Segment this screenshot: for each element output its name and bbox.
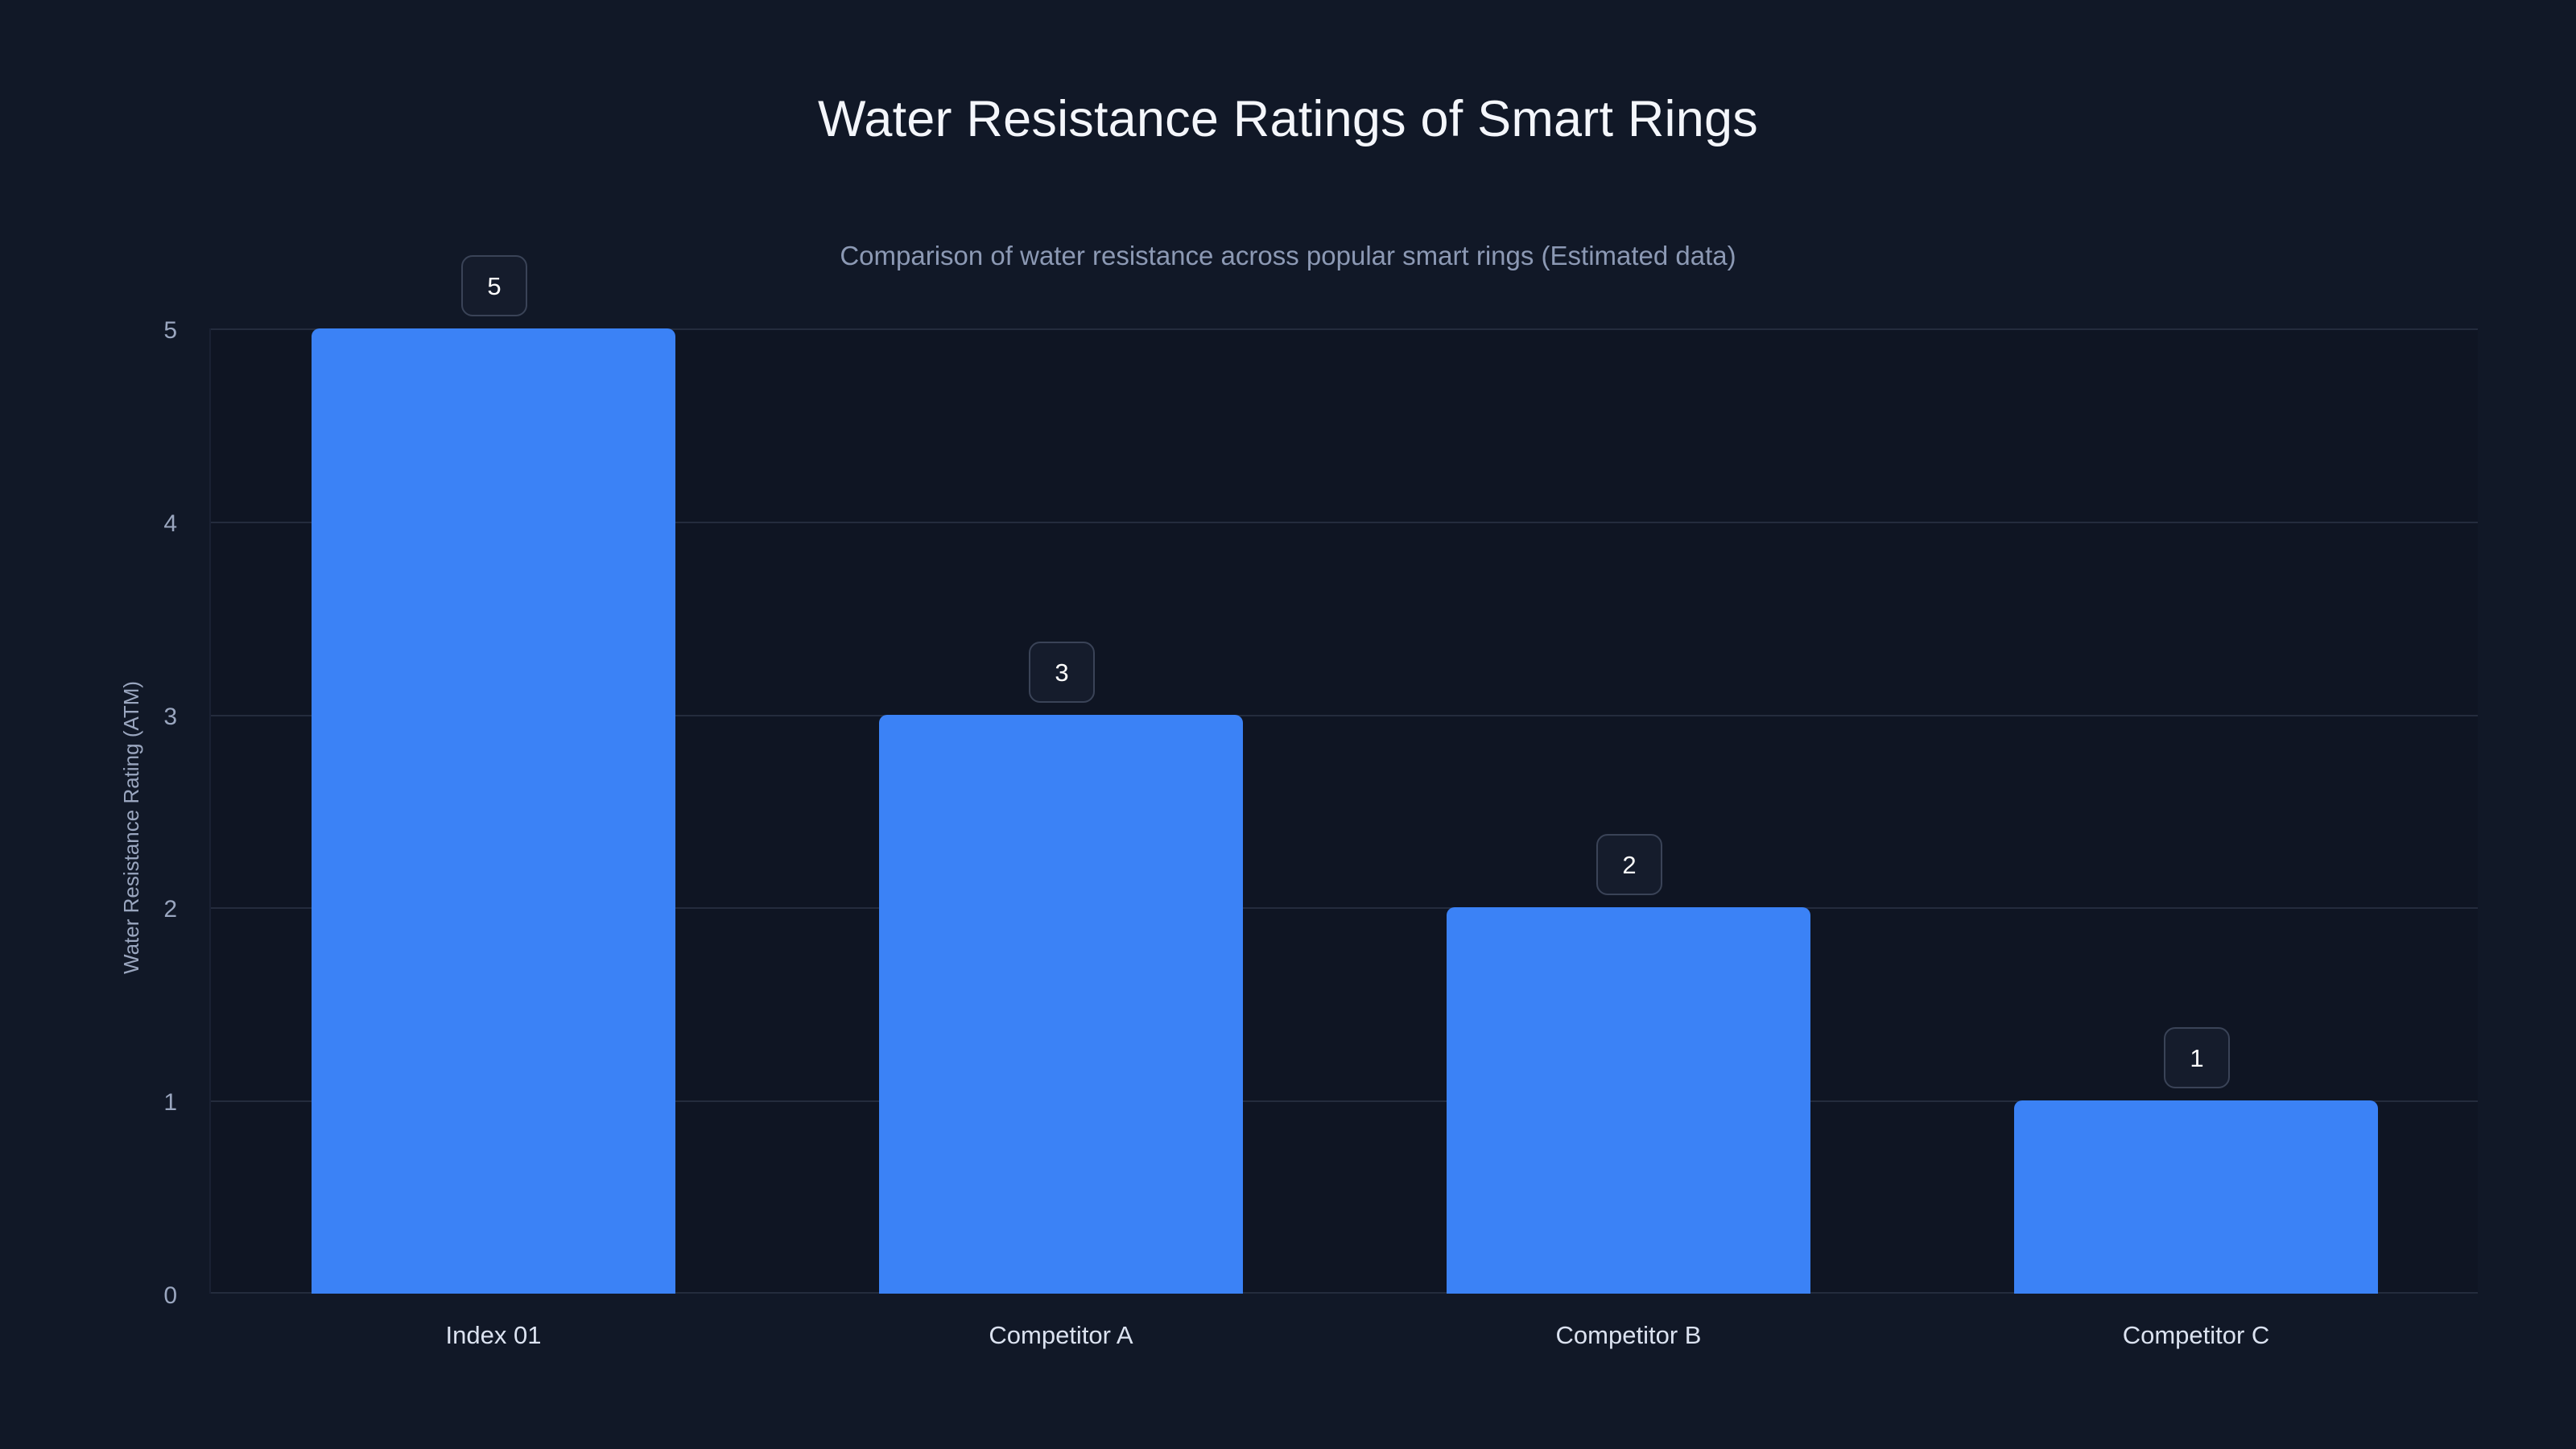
bar-chart-canvas: Water Resistance Ratings of Smart Rings … bbox=[0, 0, 2576, 1449]
x-tick-label-competitor-b: Competitor B bbox=[1447, 1323, 1810, 1348]
y-tick-label-4: 4 bbox=[105, 512, 177, 536]
value-badge-competitor-a: 3 bbox=[1029, 642, 1095, 703]
y-tick-label-2: 2 bbox=[105, 898, 177, 922]
x-tick-label-competitor-a: Competitor A bbox=[879, 1323, 1243, 1348]
bar-competitor-b[interactable] bbox=[1447, 907, 1810, 1294]
chart-title: Water Resistance Ratings of Smart Rings bbox=[0, 92, 2576, 147]
bar-competitor-c[interactable] bbox=[2014, 1100, 2378, 1294]
value-badge-competitor-b: 2 bbox=[1596, 834, 1662, 895]
y-tick-label-0: 0 bbox=[105, 1284, 177, 1308]
x-tick-label-competitor-c: Competitor C bbox=[2014, 1323, 2378, 1348]
value-badge-index-01: 5 bbox=[461, 255, 527, 316]
y-tick-label-1: 1 bbox=[105, 1091, 177, 1115]
y-tick-label-3: 3 bbox=[105, 705, 177, 729]
value-badge-competitor-c: 1 bbox=[2164, 1027, 2230, 1088]
bar-competitor-a[interactable] bbox=[879, 715, 1243, 1294]
x-tick-label-index-01: Index 01 bbox=[312, 1323, 675, 1348]
y-tick-label-5: 5 bbox=[105, 319, 177, 343]
y-axis-line bbox=[209, 328, 211, 1294]
chart-subtitle: Comparison of water resistance across po… bbox=[0, 242, 2576, 270]
bar-index-01[interactable] bbox=[312, 328, 675, 1294]
